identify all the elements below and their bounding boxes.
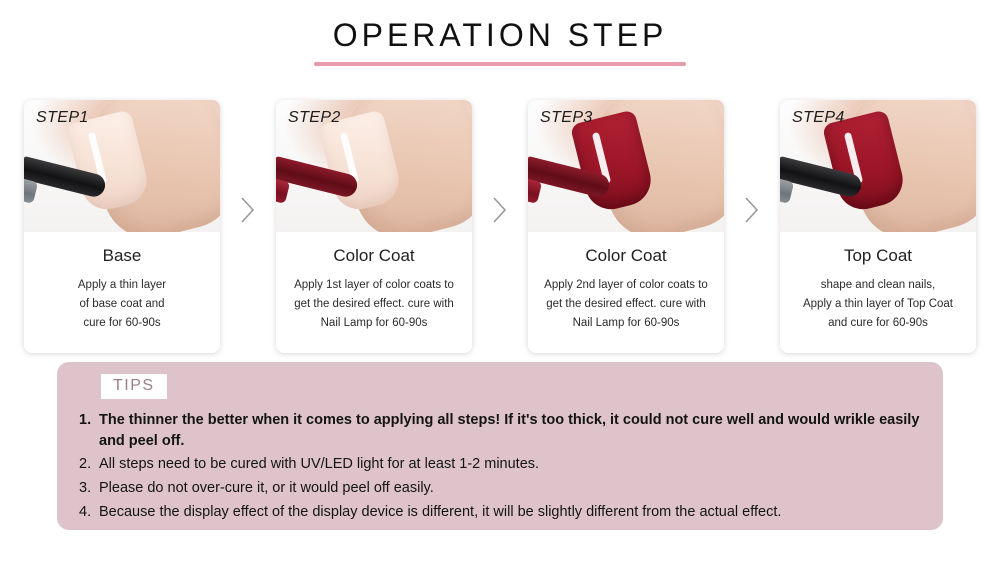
step-title-4: Top Coat	[790, 246, 966, 266]
step-desc-4: shape and clean nails, Apply a thin laye…	[790, 276, 966, 333]
step-separator-1	[220, 100, 276, 320]
tips-item-text: Because the display effect of the displa…	[99, 502, 921, 523]
step-photo-4: STEP4	[780, 100, 976, 232]
tips-item-number: 4.	[79, 502, 99, 523]
steps-row: STEP1 Base Apply a thin layer of base co…	[24, 100, 976, 353]
step-card-3[interactable]: STEP3 Color Coat Apply 2nd layer of colo…	[528, 100, 724, 353]
chevron-right-icon	[239, 195, 257, 225]
step-card-2[interactable]: STEP2 Color Coat Apply 1st layer of colo…	[276, 100, 472, 353]
step-body-1: Base Apply a thin layer of base coat and…	[24, 232, 220, 353]
step-photo-1: STEP1	[24, 100, 220, 232]
title-underline	[314, 62, 686, 66]
step-label-3: STEP3	[540, 109, 593, 127]
step-label-4: STEP4	[792, 109, 845, 127]
step-card-1[interactable]: STEP1 Base Apply a thin layer of base co…	[24, 100, 220, 353]
tips-badge: TIPS	[101, 374, 167, 399]
step-desc-3: Apply 2nd layer of color coats to get th…	[538, 276, 714, 333]
tips-item-3: 3. Please do not over-cure it, or it wou…	[79, 478, 921, 499]
page-title: OPERATION STEP	[0, 18, 1000, 53]
step-body-2: Color Coat Apply 1st layer of color coat…	[276, 232, 472, 353]
step-body-3: Color Coat Apply 2nd layer of color coat…	[528, 232, 724, 353]
step-body-4: Top Coat shape and clean nails, Apply a …	[780, 232, 976, 353]
tips-item-text: All steps need to be cured with UV/LED l…	[99, 454, 921, 475]
step-title-2: Color Coat	[286, 246, 462, 266]
step-title-1: Base	[34, 246, 210, 266]
tips-item-number: 1.	[79, 410, 99, 451]
tips-item-number: 2.	[79, 454, 99, 475]
tips-list: 1. The thinner the better when it comes …	[79, 410, 921, 523]
step-photo-2: STEP2	[276, 100, 472, 232]
step-photo-3: STEP3	[528, 100, 724, 232]
tips-item-2: 2. All steps need to be cured with UV/LE…	[79, 454, 921, 475]
step-title-3: Color Coat	[538, 246, 714, 266]
tips-panel: TIPS 1. The thinner the better when it c…	[57, 362, 943, 530]
tips-item-text: Please do not over-cure it, or it would …	[99, 478, 921, 499]
step-desc-1: Apply a thin layer of base coat and cure…	[34, 276, 210, 333]
tips-item-text: The thinner the better when it comes to …	[99, 410, 921, 451]
step-label-1: STEP1	[36, 109, 89, 127]
chevron-right-icon	[491, 195, 509, 225]
step-separator-3	[724, 100, 780, 320]
tips-item-number: 3.	[79, 478, 99, 499]
page-header: OPERATION STEP	[0, 0, 1000, 66]
tips-item-4: 4. Because the display effect of the dis…	[79, 502, 921, 523]
step-label-2: STEP2	[288, 109, 341, 127]
chevron-right-icon	[743, 195, 761, 225]
step-card-4[interactable]: STEP4 Top Coat shape and clean nails, Ap…	[780, 100, 976, 353]
tips-item-1: 1. The thinner the better when it comes …	[79, 410, 921, 451]
step-desc-2: Apply 1st layer of color coats to get th…	[286, 276, 462, 333]
step-separator-2	[472, 100, 528, 320]
